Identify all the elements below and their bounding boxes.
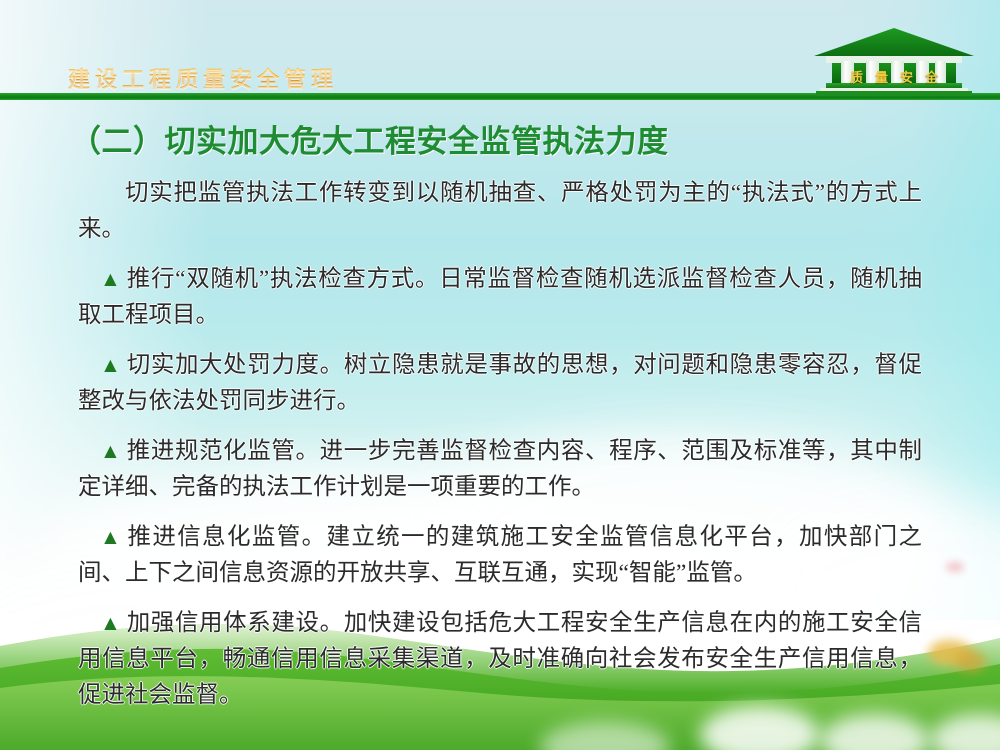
triangle-bullet-icon: ▲ xyxy=(100,439,121,463)
bullet-text: 推进规范化监管。进一步完善监督检查内容、程序、范围及标准等，其中制定详细、完备的… xyxy=(78,438,922,500)
bullet-text: 加强信用体系建设。加快建设包括危大工程安全生产信息在内的施工安全信用信息平台，畅… xyxy=(78,610,922,708)
slide-title: （二）切实加大危大工程安全监管执法力度 xyxy=(70,116,1000,161)
bullet-item: ▲切实加大处罚力度。树立隐患就是事故的思想，对问题和隐患零容忍，督促整改与依法处… xyxy=(78,347,922,419)
bullet-text: 推行“双随机”执法检查方式。日常监督检查随机选派监督检查人员，随机抽取工程项目。 xyxy=(78,266,922,328)
intro-paragraph: 切实把监管执法工作转变到以随机抽查、严格处罚为主的“执法式”的方式上来。 xyxy=(78,175,922,247)
bullet-item: ▲推进规范化监管。进一步完善监督检查内容、程序、范围及标准等，其中制定详细、完备… xyxy=(78,433,922,505)
header-title: 建设工程质量安全管理 xyxy=(68,62,338,94)
bullet-item: ▲推行“双随机”执法检查方式。日常监督检查随机选派监督检查人员，随机抽取工程项目… xyxy=(78,261,922,333)
triangle-bullet-icon: ▲ xyxy=(100,353,121,377)
slide-canvas: 建设工程质量安全管理 xyxy=(0,0,1000,750)
bullet-item: ▲加强信用体系建设。加快建设包括危大工程安全生产信息在内的施工安全信用信息平台，… xyxy=(78,605,922,713)
bullet-text: 切实加大处罚力度。树立隐患就是事故的思想，对问题和隐患零容忍，督促整改与依法处罚… xyxy=(78,352,922,414)
triangle-bullet-icon: ▲ xyxy=(100,525,122,549)
bullet-text: 推进信息化监管。建立统一的建筑施工安全监管信息化平台，加快部门之间、上下之间信息… xyxy=(78,524,922,586)
triangle-bullet-icon: ▲ xyxy=(100,611,121,635)
bullet-item: ▲推进信息化监管。建立统一的建筑施工安全监管信息化平台，加快部门之间、上下之间信… xyxy=(78,519,922,591)
slide-header: 建设工程质量安全管理 xyxy=(0,0,1000,102)
triangle-bullet-icon: ▲ xyxy=(100,267,121,291)
quality-safety-building-logo: 质量安全 xyxy=(808,26,980,98)
slide-content: （二）切实加大危大工程安全监管执法力度 切实把监管执法工作转变到以随机抽查、严格… xyxy=(0,104,1000,713)
